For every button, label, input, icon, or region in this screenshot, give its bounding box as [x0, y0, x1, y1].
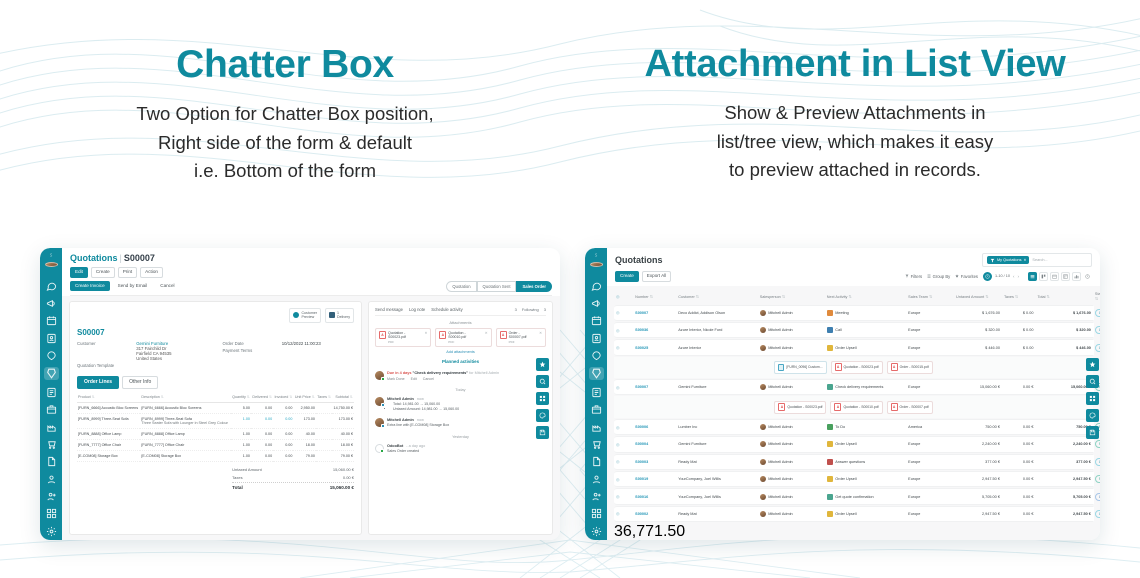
pdf-icon: A	[778, 403, 785, 411]
edit-button[interactable]: Edit	[70, 267, 88, 278]
globe-icon	[293, 312, 299, 318]
left-floating-rail	[536, 358, 549, 439]
row-checkbox[interactable]: ◎	[614, 506, 633, 522]
list-footer-totals: 36,771.50 0.00 36,771.50	[614, 523, 1093, 540]
close-icon[interactable]: ✕	[539, 331, 542, 335]
col-taxes[interactable]: Taxes ⇅	[1002, 290, 1036, 304]
attachment-type: PDF	[388, 340, 421, 344]
cell-salesperson: Mitchell Admin	[758, 488, 825, 504]
footer-untaxed: 36,771.50	[614, 523, 662, 540]
attachment-name: Order - S00015.pdf	[900, 365, 929, 369]
messages-icon[interactable]	[46, 281, 57, 292]
activity-type-icon	[827, 441, 833, 447]
kanban-view-icon[interactable]	[1039, 272, 1048, 281]
breadcrumb: Quotations|S00007	[70, 253, 155, 263]
total-value: 0.00 €	[343, 475, 354, 480]
user-avatar[interactable]	[45, 262, 58, 267]
line-invoiced: 0.00	[273, 413, 293, 428]
crm-icon[interactable]	[46, 350, 57, 361]
message-author: Mitchell Adminnow	[387, 418, 546, 422]
edit-activity-link[interactable]: Edit	[411, 377, 417, 381]
cell-sales-team: Europe	[906, 506, 954, 522]
cell-sales-team: Europe	[906, 339, 954, 355]
avatar	[760, 345, 766, 351]
activity-summary: "Check delivery requirements"	[413, 371, 469, 375]
line-subtotal: 14,750.00 €	[332, 402, 354, 413]
user-avatar[interactable]	[590, 262, 603, 267]
line-unit-price: 18.00	[293, 439, 316, 450]
cell-untaxed-amount: 2,947.50 €	[954, 506, 1002, 522]
status-badge: Quotation	[1095, 458, 1100, 466]
attachment-type: PDF	[448, 340, 481, 344]
avatar	[760, 384, 766, 390]
message-body: Sales Order created	[387, 449, 546, 454]
customer-address-3: United States	[136, 356, 171, 361]
pager-next-button[interactable]: ›	[1018, 274, 1020, 279]
line-delivered: 0.00	[251, 402, 273, 413]
line-unit-price: 79.00	[293, 450, 316, 461]
table-row[interactable]: ◎ S00006 Lumber Inc Mitchell Admin To Do…	[614, 419, 1093, 435]
calendar-icon[interactable]	[591, 315, 602, 326]
line-invoiced: 0.00	[273, 439, 293, 450]
attachment-name: Order - S00007.pdf	[509, 331, 537, 340]
cell-salesperson: Mitchell Admin	[758, 471, 825, 487]
line-unit-price: 173.00	[293, 413, 316, 428]
record-count-badge[interactable]	[983, 272, 992, 281]
row-checkbox[interactable]: ◎	[614, 305, 633, 321]
row-checkbox[interactable]: ◎	[614, 471, 633, 487]
attachment-card[interactable]: A Quotation - S00010.pdf PDF ✕	[435, 328, 491, 347]
activity-type-icon	[827, 494, 833, 500]
add-attachments-link[interactable]: Add attachments	[375, 350, 546, 354]
cell-untaxed-amount: $ 446.00	[954, 339, 1002, 355]
megaphone-icon[interactable]	[46, 298, 57, 309]
cell-untaxed-amount: 377.00 €	[954, 454, 1002, 470]
filter-icon	[990, 258, 995, 263]
table-row[interactable]: ◎ S00007 Gemini Furniture Mitchell Admin…	[614, 379, 1093, 395]
cell-number[interactable]: S00004	[633, 436, 676, 452]
list-control-panel: Quotations My Quotations ✕ Search...	[607, 248, 1100, 286]
activity-view-icon[interactable]	[1083, 272, 1092, 281]
notebook-tabs: Order Lines Other Info	[77, 376, 354, 389]
attachment-name: Quotation - S00023.pdf	[787, 405, 822, 409]
attachment-card[interactable]: A Order - S00007.pdf PDF ✕	[496, 328, 546, 347]
message-item: Mitchell Adminnow Extra line with [E-COM…	[375, 415, 546, 431]
avatar	[375, 397, 384, 406]
cell-number[interactable]: S00016	[633, 488, 676, 504]
cell-number[interactable]: S00007	[633, 305, 676, 321]
cell-salesperson: Mitchell Admin	[758, 419, 825, 435]
smart-buttons: CustomerPreview 1Delivery	[77, 308, 354, 323]
field-order-date: Order Date 10/12/2022 11:00:23	[223, 341, 355, 346]
send-by-email-button[interactable]: Send by Email	[113, 281, 153, 292]
cell-sales-team: Europe	[906, 436, 954, 452]
col-total[interactable]: Total ⇅	[1035, 290, 1092, 304]
customer-address-1: 317 Fairchild Dr	[136, 346, 171, 351]
customer-preview-smart-button[interactable]: CustomerPreview	[289, 308, 321, 323]
line-subtotal: 18.00 €	[332, 439, 354, 450]
cancel-button[interactable]: Cancel	[155, 281, 179, 292]
delivery-smart-button[interactable]: 1Delivery	[325, 308, 354, 323]
table-row[interactable]: ◎ S00007 Deco Addict, Addison Olson Mitc…	[614, 305, 1093, 321]
star-icon	[955, 274, 959, 278]
cell-total: 15,060.00 €	[1035, 379, 1092, 395]
employees-icon[interactable]	[591, 474, 602, 485]
search-placeholder: Search...	[1032, 258, 1047, 262]
headline-title-attachment: Attachment in List View	[644, 45, 1065, 85]
status-bar: Quotation Quotation Sent Sales Order	[446, 281, 552, 292]
cell-next-activity: Order Upsell	[825, 506, 906, 522]
cell-taxes: 0.00 €	[1002, 436, 1036, 452]
message-author: Mitchell Adminnow	[387, 397, 546, 401]
cell-sales-team: Europe	[906, 488, 954, 504]
day-separator: Today	[375, 388, 546, 392]
group-icon	[927, 274, 931, 278]
status-sales-order[interactable]: Sales Order	[516, 281, 552, 292]
status-badge: Sales Order	[1095, 440, 1100, 448]
close-icon[interactable]: ✕	[424, 331, 427, 335]
col-salesperson[interactable]: Salesperson ⇅	[758, 290, 825, 304]
star-icon[interactable]	[536, 358, 549, 371]
status-badge: Quotation Sent	[1095, 493, 1100, 501]
line-invoiced: 0.00	[273, 450, 293, 461]
send-message-button[interactable]: Send message	[375, 307, 403, 312]
line-quantity: 1.00	[231, 450, 251, 461]
page-title: Quotations	[615, 255, 663, 265]
invoicing-icon[interactable]	[591, 387, 602, 398]
attachment-chip[interactable]: [FURN_0096] Custom...	[774, 361, 826, 374]
line-delivered: 0.00	[251, 450, 273, 461]
line-quantity: 1.00	[231, 428, 251, 439]
cell-taxes: 0.00 €	[1002, 488, 1036, 504]
cell-next-activity: To Do	[825, 419, 906, 435]
row-checkbox[interactable]: ◎	[614, 379, 633, 395]
total-value: 15,060.00 €	[333, 467, 354, 472]
close-icon[interactable]: ✕	[485, 331, 488, 335]
search-icon[interactable]	[1086, 375, 1099, 388]
activity-type-icon	[827, 310, 833, 316]
contacts-icon[interactable]	[591, 333, 602, 344]
clock-icon	[985, 274, 990, 279]
cell-taxes: $ 0.00	[1002, 305, 1036, 321]
cell-untaxed-amount: $ 1,676.00	[954, 305, 1002, 321]
avatar	[760, 424, 766, 430]
form-fields: Customer Gemini Furniture 317 Fairchild …	[77, 341, 354, 371]
cell-next-activity: Answer questions	[825, 454, 906, 470]
avatar	[760, 327, 766, 333]
image-icon	[778, 364, 784, 371]
group-by-dropdown[interactable]: Group By	[927, 274, 950, 279]
total-row: Total 15,060.00 €	[232, 482, 354, 492]
status-quotation-sent[interactable]: Quotation Sent	[477, 281, 517, 292]
grid-icon[interactable]	[536, 392, 549, 405]
avatar	[760, 441, 766, 447]
form-sheet: CustomerPreview 1Delivery S00007	[69, 301, 362, 535]
create-button[interactable]: Create	[91, 267, 115, 278]
col-delivered[interactable]: Delivered ⇅	[251, 393, 273, 403]
attachment-chip[interactable]: A Order - S00007.pdf	[887, 401, 933, 414]
row-checkbox[interactable]: ◎	[614, 419, 633, 435]
sales-icon-selected[interactable]	[44, 367, 59, 380]
cell-number[interactable]: S00007	[633, 379, 676, 395]
app-logo-icon	[43, 253, 59, 257]
headline-block-chatter: Chatter Box Two Option for Chatter Box p…	[0, 0, 570, 215]
col-taxes[interactable]: Taxes ⇅	[316, 393, 332, 403]
attachment-card[interactable]: A Quotation - S00023.pdf PDF ✕	[375, 328, 431, 347]
tab-other-info[interactable]: Other Info	[122, 376, 158, 389]
cell-customer: Gemini Furniture	[676, 436, 757, 452]
table-row[interactable]: ◎ S00016 YourCompany, Joel Willis Mitche…	[614, 488, 1093, 504]
documents-icon[interactable]	[46, 456, 57, 467]
row-checkbox[interactable]: ◎	[614, 322, 633, 338]
col-quantity[interactable]: Quantity ⇅	[231, 393, 251, 403]
cell-next-activity: Order Upsell	[825, 471, 906, 487]
line-delivered: 0.00	[251, 428, 273, 439]
cell-number[interactable]: S00003	[633, 454, 676, 470]
cell-total: 750.00 €	[1035, 419, 1092, 435]
message-body: Extra line with [E-COM08] Storage Box	[387, 423, 546, 428]
avatar	[760, 511, 766, 517]
manufacturing-icon[interactable]	[46, 422, 57, 433]
app-logo-icon	[588, 253, 604, 257]
line-taxes	[316, 439, 332, 450]
status-quotation[interactable]: Quotation	[446, 281, 476, 292]
pivot-view-icon[interactable]	[1061, 272, 1070, 281]
apps-icon[interactable]	[591, 508, 602, 519]
documents-icon[interactable]	[591, 456, 602, 467]
cancel-activity-link[interactable]: Cancel	[423, 377, 434, 381]
cell-sales-team: Europe	[906, 379, 954, 395]
invoicing-icon[interactable]	[46, 387, 57, 398]
recruitment-icon[interactable]	[591, 491, 602, 502]
col-number[interactable]: Number ⇅	[633, 290, 676, 304]
messages-icon[interactable]	[591, 281, 602, 292]
contacts-icon[interactable]	[46, 333, 57, 344]
line-quantity: 1.00	[231, 439, 251, 450]
cell-total: 377.00 €	[1035, 454, 1092, 470]
search-facet-my-quotations[interactable]: My Quotations ✕	[987, 256, 1029, 264]
order-line-row[interactable]: [FURN_7777] Office Chair [FURN_7777] Off…	[77, 439, 354, 450]
line-invoiced: 0.00	[273, 402, 293, 413]
attachment-strip-row: A Quotation - S00023.pdf A Quotation - S…	[614, 396, 1093, 417]
line-description: [FURN_7777] Office Chair	[140, 439, 230, 450]
cell-number[interactable]: S00025	[633, 339, 676, 355]
line-taxes	[316, 402, 332, 413]
col-unit-price[interactable]: Unit Price ⇅	[293, 393, 316, 403]
pdf-icon: A	[500, 331, 507, 339]
avatar	[760, 494, 766, 500]
form-action-buttons: Create Invoice Send by Email Cancel	[70, 281, 180, 292]
line-product: [FURN_7777] Office Chair	[77, 439, 140, 450]
follower-badge[interactable]: 3	[544, 307, 546, 312]
status-badge: Quotation	[1095, 326, 1100, 334]
cell-untaxed-amount: 5,705.00 €	[954, 488, 1002, 504]
breadcrumb-record: S00007	[124, 253, 155, 263]
order-line-row[interactable]: [FURN_8999] Three-Seat Sofa [FURN_8999] …	[77, 413, 354, 428]
attachment-chip[interactable]: A Order - S00015.pdf	[887, 361, 933, 374]
palette-icon[interactable]	[1086, 409, 1099, 422]
table-row[interactable]: ◎ S00019 YourCompany, Joel Willis Mitche…	[614, 471, 1093, 487]
palette-icon[interactable]	[536, 409, 549, 422]
graph-view-icon[interactable]	[1072, 272, 1081, 281]
col-sales-team[interactable]: Sales Team ⇅	[906, 290, 954, 304]
cell-number[interactable]: S00019	[633, 471, 676, 487]
order-lines-header: Product ⇅Description ⇅Quantity ⇅Delivere…	[77, 393, 354, 403]
line-subtotal: 79.00 €	[332, 450, 354, 461]
status-badge: Quotation	[1095, 344, 1100, 352]
attachment-name: Quotation - S00023.pdf	[844, 365, 879, 369]
employees-icon[interactable]	[46, 474, 57, 485]
avatar	[760, 476, 766, 482]
record-title: S00007	[77, 328, 354, 337]
row-checkbox[interactable]: ◎	[614, 339, 633, 355]
avatar	[375, 371, 384, 380]
field-order-date-value[interactable]: 10/12/2022 11:00:23	[282, 341, 321, 346]
order-line-row[interactable]: [E-COM08] Storage Box [E-COM08] Storage …	[77, 450, 354, 461]
col-subtotal[interactable]: Subtotal ⇅	[332, 393, 354, 403]
pdf-icon: A	[834, 403, 841, 411]
avatar	[760, 459, 766, 465]
settings-gear-icon[interactable]	[591, 526, 602, 537]
sales-icon-selected[interactable]	[589, 367, 604, 380]
table-row[interactable]: ◎ S00025 Azure Interior Mitchell Admin O…	[614, 339, 1093, 355]
headline-block-attachment: Attachment in List View Show & Preview A…	[570, 0, 1140, 215]
table-row[interactable]: ◎ S00036 Azure Interior, Nicole Ford Mit…	[614, 322, 1093, 338]
activity-item: Due in 4 days "Check delivery requiremen…	[375, 368, 546, 384]
settings-gear-icon[interactable]	[46, 526, 57, 537]
pager-prev-button[interactable]: ‹	[1013, 274, 1015, 279]
order-line-row[interactable]: [FURN_8888] Office Lamp [FURN_8888] Offi…	[77, 428, 354, 439]
cell-salesperson: Mitchell Admin	[758, 339, 825, 355]
col-product[interactable]: Product ⇅	[77, 393, 140, 403]
cell-sales-team: Europe	[906, 305, 954, 321]
col-description[interactable]: Description ⇅	[140, 393, 230, 403]
order-lines-table: Product ⇅Description ⇅Quantity ⇅Delivere…	[77, 393, 354, 462]
line-unit-price: 40.00	[293, 428, 316, 439]
planned-activities-heading: Planned activities	[375, 359, 546, 364]
inventory-icon[interactable]	[46, 404, 57, 415]
message-item: OdooBot- a day ago Sales Order created	[375, 441, 546, 457]
cell-salesperson: Mitchell Admin	[758, 454, 825, 470]
headline-subtitle-chatter: Two Option for Chatter Box position,Righ…	[136, 100, 433, 186]
tab-order-lines[interactable]: Order Lines	[77, 376, 119, 389]
attachment-chip[interactable]: A Quotation - S00010.pdf	[830, 401, 882, 414]
print-button[interactable]: Print	[118, 267, 137, 278]
save-icon[interactable]	[1086, 426, 1099, 439]
schedule-activity-button[interactable]: Schedule activity	[431, 307, 462, 312]
cell-number[interactable]: S00002	[633, 506, 676, 522]
activity-type-icon	[827, 476, 833, 482]
col-next-activity[interactable]: Next Activity ⇅	[825, 290, 906, 304]
attachment-list: A Quotation - S00023.pdf PDF ✕ A Quotati…	[375, 328, 546, 347]
attachment-chip[interactable]: A Quotation - S00023.pdf	[774, 401, 826, 414]
export-all-button[interactable]: Export All	[642, 271, 671, 282]
table-row[interactable]: ◎ S00003 Ready Mat Mitchell Admin Answer…	[614, 454, 1093, 470]
cell-taxes: 0.00 €	[1002, 379, 1036, 395]
order-line-row[interactable]: [FURN_6666] Acoustic Bloc Screens [FURN_…	[77, 402, 354, 413]
cell-salesperson: Mitchell Admin	[758, 436, 825, 452]
attachment-name: [FURN_0096] Custom...	[786, 365, 822, 369]
calendar-view-icon[interactable]	[1050, 272, 1059, 281]
message-body: Total: 14,981.00 → 15,060.00Untaxed Amou…	[387, 402, 546, 412]
breadcrumb-separator: |	[120, 253, 122, 263]
apps-icon[interactable]	[46, 508, 57, 519]
attachment-name: Quotation - S00010.pdf	[448, 331, 481, 340]
col-customer[interactable]: Customer ⇅	[676, 290, 757, 304]
create-invoice-button[interactable]: Create Invoice	[70, 281, 110, 292]
recruitment-icon[interactable]	[46, 491, 57, 502]
right-floating-rail	[1086, 358, 1099, 439]
log-note-button[interactable]: Log note	[409, 307, 425, 312]
cell-untaxed-amount: 2,947.50 €	[954, 471, 1002, 487]
grid-icon[interactable]	[1086, 392, 1099, 405]
col-invoiced[interactable]: Invoiced ⇅	[273, 393, 293, 403]
cell-total: $ 320.00	[1035, 322, 1092, 338]
col-untaxed-amount[interactable]: Untaxed Amount ⇅	[954, 290, 1002, 304]
table-row[interactable]: ◎ S00004 Gemini Furniture Mitchell Admin…	[614, 436, 1093, 452]
calendar-icon[interactable]	[46, 315, 57, 326]
pdf-icon: A	[891, 403, 898, 411]
following-toggle[interactable]: Following	[522, 307, 539, 312]
inventory-icon[interactable]	[591, 404, 602, 415]
purchase-icon[interactable]	[46, 439, 57, 450]
attachment-chip[interactable]: A Quotation - S00023.pdf	[831, 361, 883, 374]
activity-type-icon	[827, 327, 833, 333]
select-all-checkbox[interactable]: ◎	[614, 290, 633, 304]
app-sidebar-right	[585, 248, 607, 540]
headline-subtitle-attachment: Show & Preview Attachments inlist/tree v…	[717, 99, 994, 185]
table-row[interactable]: ◎ S00002 Ready Mat Mitchell Admin Order …	[614, 506, 1093, 522]
favorites-dropdown[interactable]: Favorites	[955, 274, 978, 279]
attachments-heading: Attachments	[375, 320, 546, 325]
row-checkbox[interactable]: ◎	[614, 454, 633, 470]
cell-number[interactable]: S00036	[633, 322, 676, 338]
cell-taxes: 0.00 €	[1002, 454, 1036, 470]
cell-untaxed-amount: 2,240.00 €	[954, 436, 1002, 452]
line-description: [E-COM08] Storage Box	[140, 450, 230, 461]
quotations-list-table: ◎Number ⇅Customer ⇅Salesperson ⇅Next Act…	[614, 289, 1093, 524]
crm-icon[interactable]	[591, 350, 602, 361]
cell-untaxed-amount: 750.00 €	[954, 419, 1002, 435]
action-button[interactable]: Action	[140, 267, 163, 278]
cell-number[interactable]: S00006	[633, 419, 676, 435]
filters-dropdown[interactable]: Filters	[905, 274, 922, 279]
star-icon[interactable]	[1086, 358, 1099, 371]
cell-customer: Ready Mat	[676, 506, 757, 522]
megaphone-icon[interactable]	[591, 298, 602, 309]
mark-done-link[interactable]: Mark Done	[387, 377, 405, 381]
create-button[interactable]: Create	[615, 271, 639, 282]
row-checkbox[interactable]: ◎	[614, 488, 633, 504]
follower-count[interactable]: 3	[515, 307, 517, 312]
promo-page: Chatter Box Two Option for Chatter Box p…	[0, 0, 1140, 578]
save-icon[interactable]	[536, 426, 549, 439]
cell-sales-team: Europe	[906, 454, 954, 470]
breadcrumb-app[interactable]: Quotations	[70, 253, 118, 263]
manufacturing-icon[interactable]	[591, 422, 602, 433]
search-icon[interactable]	[536, 375, 549, 388]
purchase-icon[interactable]	[591, 439, 602, 450]
field-payment-terms: Payment Terms	[223, 348, 355, 353]
form-view-mockup: Quotations|S00007 Edit Create Print Acti…	[40, 248, 560, 540]
pdf-icon: A	[439, 331, 446, 339]
cell-taxes: $ 0.00	[1002, 322, 1036, 338]
search-input[interactable]: My Quotations ✕ Search...	[982, 253, 1092, 267]
total-row: Untaxed Amount 15,060.00 €	[232, 466, 354, 474]
row-checkbox[interactable]: ◎	[614, 436, 633, 452]
cell-sales-team: Europe	[906, 322, 954, 338]
list-view-icon[interactable]	[1028, 272, 1037, 281]
